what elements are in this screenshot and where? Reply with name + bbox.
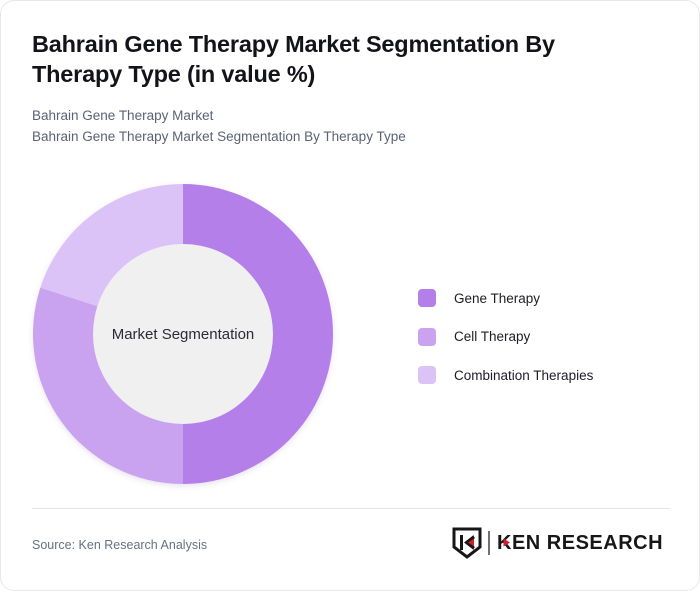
subtitle-line-2: Bahrain Gene Therapy Market Segmentation… [32,126,632,147]
legend-label: Combination Therapies [454,368,593,383]
source-note: Source: Ken Research Analysis [32,538,207,552]
logo-text: KEN RESEARCH [497,532,663,554]
chart-legend: Gene Therapy Cell Therapy Combination Th… [418,279,668,395]
chart-header: Bahrain Gene Therapy Market Segmentation… [32,29,632,147]
footer-divider [32,508,670,509]
legend-swatch-icon [418,289,436,307]
legend-item-combination-therapies[interactable]: Combination Therapies [418,356,668,395]
legend-label: Cell Therapy [454,329,530,344]
legend-item-gene-therapy[interactable]: Gene Therapy [418,279,668,318]
legend-swatch-icon [418,328,436,346]
chart-plot-area: Market Segmentation Gene Therapy Cell Th… [1,169,700,499]
subtitle-block: Bahrain Gene Therapy Market Bahrain Gene… [32,105,632,147]
ken-research-wordmark: KEN RESEARCH [497,531,669,555]
legend-label: Gene Therapy [454,291,540,306]
donut-svg: Market Segmentation [33,169,333,499]
page-title: Bahrain Gene Therapy Market Segmentation… [32,29,632,89]
donut-center-label: Market Segmentation [112,326,255,343]
ken-research-logo: KEN RESEARCH [452,526,669,560]
legend-item-cell-therapy[interactable]: Cell Therapy [418,318,668,357]
logo-separator-bar [488,531,490,555]
donut-chart: Market Segmentation [33,169,333,499]
chart-card: Bahrain Gene Therapy Market Segmentation… [0,0,700,591]
ken-research-shield-icon [452,527,482,559]
legend-swatch-icon [418,366,436,384]
subtitle-line-1: Bahrain Gene Therapy Market [32,105,632,126]
